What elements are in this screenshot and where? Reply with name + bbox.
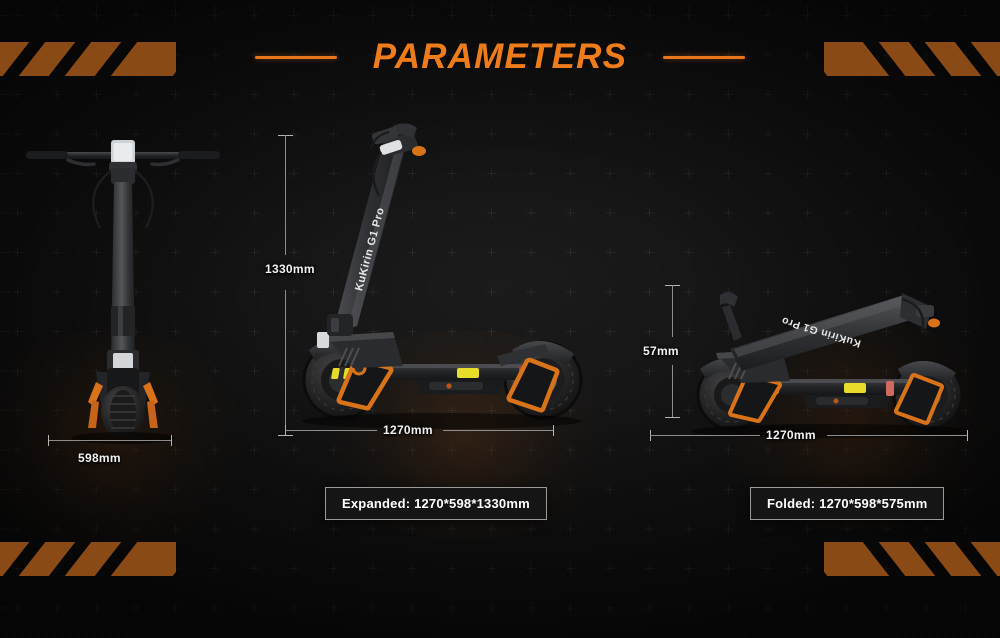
- expanded-view-panel: 1330mm: [265, 110, 595, 510]
- folded-height-line-lower: [672, 365, 673, 417]
- scooter-front-illustration: [8, 110, 238, 430]
- folded-length-line-left: [650, 435, 760, 436]
- front-view-panel: 598mm: [8, 110, 238, 470]
- expanded-length-line-left: [285, 430, 377, 431]
- parameters-page: PARAMETERS: [0, 0, 1000, 638]
- folded-length-cap-right: [967, 430, 968, 441]
- expanded-height-line-upper: [285, 135, 286, 255]
- title-rule-left: [255, 56, 337, 59]
- folded-height-label: 57mm: [643, 344, 679, 358]
- expanded-length-label: 1270mm: [383, 423, 433, 437]
- folded-caption-box: Folded: 1270*598*575mm: [750, 487, 944, 520]
- folded-height-cap-bottom: [665, 417, 680, 418]
- scooter-folded-illustration: KuKirin G1 Pro: [690, 277, 990, 437]
- page-title: PARAMETERS: [373, 37, 627, 77]
- page-header: PARAMETERS: [0, 28, 1000, 86]
- folded-view-panel: 57mm: [640, 265, 995, 510]
- title-rule-right: [663, 56, 745, 59]
- expanded-height-line-lower: [285, 290, 286, 435]
- folded-length-label: 1270mm: [766, 428, 816, 442]
- front-width-dimension-line: [48, 440, 172, 441]
- expanded-length-cap-right: [553, 425, 554, 436]
- corner-stripes-bottom-left: [0, 542, 176, 576]
- expanded-length-line-right: [443, 430, 553, 431]
- expanded-caption-box: Expanded: 1270*598*1330mm: [325, 487, 547, 520]
- front-width-label: 598mm: [78, 451, 121, 465]
- corner-stripes-bottom-right: [824, 542, 1000, 576]
- scooter-expanded-illustration: KuKirin G1 Pro: [297, 118, 597, 438]
- folded-height-line-upper: [672, 285, 673, 337]
- folded-length-line-right: [827, 435, 967, 436]
